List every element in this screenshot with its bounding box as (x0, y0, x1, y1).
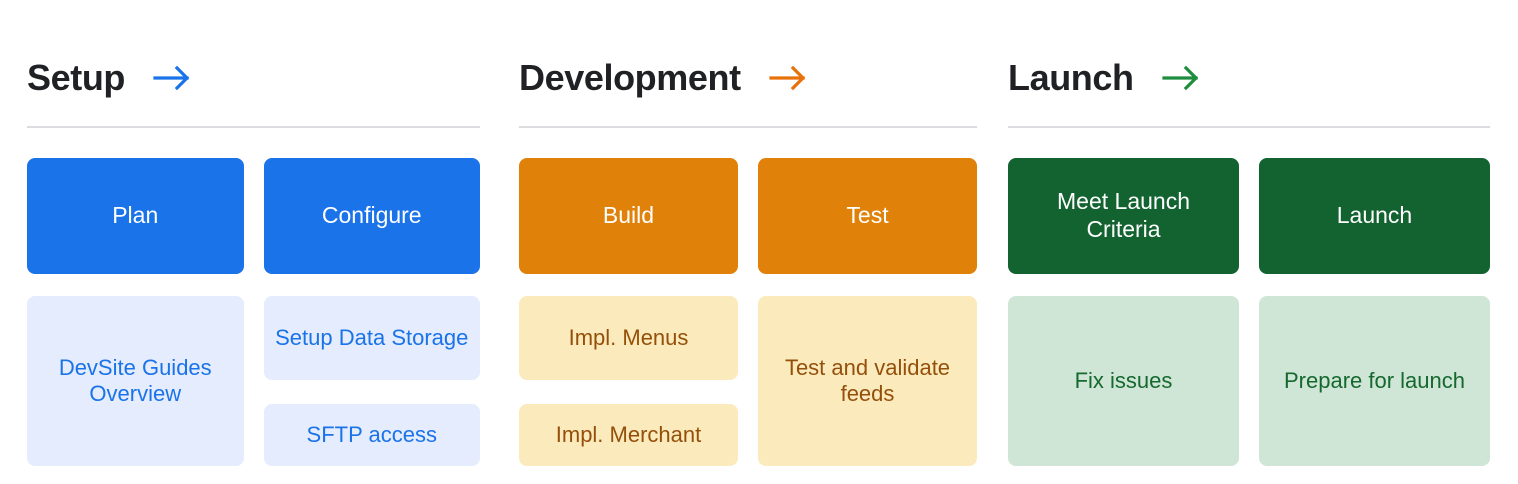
phase-body-setup: Plan Configure DevSite Guides Overview S… (27, 128, 480, 484)
primary-card-label: Launch (1337, 202, 1412, 230)
secondary-card-fix-issues[interactable]: Fix issues (1008, 296, 1239, 466)
secondary-card-label: Prepare for launch (1284, 368, 1465, 394)
phase-body-launch: Meet Launch Criteria Launch Fix issues P… (1008, 128, 1490, 484)
primary-card-row-development: Build Test (519, 158, 977, 274)
primary-card-configure[interactable]: Configure (264, 158, 481, 274)
phase-column-setup: Setup Plan Configure (0, 0, 497, 484)
secondary-card-sftp-access[interactable]: SFTP access (264, 404, 481, 466)
primary-card-row-launch: Meet Launch Criteria Launch (1008, 158, 1490, 274)
primary-card-label: Meet Launch Criteria (1018, 188, 1229, 243)
phase-header-development: Development (519, 0, 977, 126)
secondary-card-label: Impl. Merchant (556, 422, 702, 448)
primary-card-row-setup: Plan Configure (27, 158, 480, 274)
arrow-right-icon (769, 64, 809, 92)
roadmap-board: Setup Plan Configure (0, 0, 1518, 484)
secondary-card-label: Impl. Menus (569, 325, 689, 351)
primary-card-launch[interactable]: Launch (1259, 158, 1490, 274)
secondary-card-label: DevSite Guides Overview (37, 355, 234, 408)
phase-body-development: Build Test Impl. Menus Impl. Merchant (519, 128, 977, 484)
secondary-card-prepare-for-launch[interactable]: Prepare for launch (1259, 296, 1490, 466)
secondary-card-test-and-validate-feeds[interactable]: Test and validate feeds (758, 296, 977, 466)
primary-card-label: Test (846, 202, 888, 230)
phase-title-development: Development (519, 60, 741, 96)
phase-column-development: Development Build Test (497, 0, 994, 484)
secondary-cell-plan: DevSite Guides Overview (27, 296, 244, 466)
secondary-card-row-launch: Fix issues Prepare for launch (1008, 296, 1490, 466)
secondary-card-impl-menus[interactable]: Impl. Menus (519, 296, 738, 380)
secondary-card-row-setup: DevSite Guides Overview Setup Data Stora… (27, 296, 480, 466)
secondary-card-label: Test and validate feeds (768, 355, 967, 408)
primary-card-label: Build (603, 202, 654, 230)
secondary-cell-configure: Setup Data Storage SFTP access (264, 296, 481, 466)
arrow-right-icon (153, 64, 193, 92)
primary-card-label: Configure (322, 202, 422, 230)
secondary-card-impl-merchant[interactable]: Impl. Merchant (519, 404, 738, 466)
secondary-cell-build: Impl. Menus Impl. Merchant (519, 296, 738, 466)
phase-column-launch: Launch Meet Launch Criteria Launch (994, 0, 1518, 484)
primary-card-label: Plan (112, 202, 158, 230)
phase-title-setup: Setup (27, 60, 125, 96)
phase-title-launch: Launch (1008, 60, 1134, 96)
secondary-cell-launch: Prepare for launch (1259, 296, 1490, 466)
primary-card-plan[interactable]: Plan (27, 158, 244, 274)
secondary-card-row-development: Impl. Menus Impl. Merchant Test and vali… (519, 296, 977, 466)
primary-card-meet-launch-criteria[interactable]: Meet Launch Criteria (1008, 158, 1239, 274)
secondary-card-label: Fix issues (1075, 368, 1173, 394)
phase-header-setup: Setup (27, 0, 480, 126)
phase-header-launch: Launch (1008, 0, 1490, 126)
secondary-card-setup-data-storage[interactable]: Setup Data Storage (264, 296, 481, 380)
primary-card-build[interactable]: Build (519, 158, 738, 274)
secondary-card-devsite-guides-overview[interactable]: DevSite Guides Overview (27, 296, 244, 466)
secondary-card-label: Setup Data Storage (275, 325, 468, 351)
secondary-card-label: SFTP access (307, 422, 437, 448)
secondary-cell-test: Test and validate feeds (758, 296, 977, 466)
secondary-cell-meet-launch-criteria: Fix issues (1008, 296, 1239, 466)
arrow-right-icon (1162, 64, 1202, 92)
primary-card-test[interactable]: Test (758, 158, 977, 274)
